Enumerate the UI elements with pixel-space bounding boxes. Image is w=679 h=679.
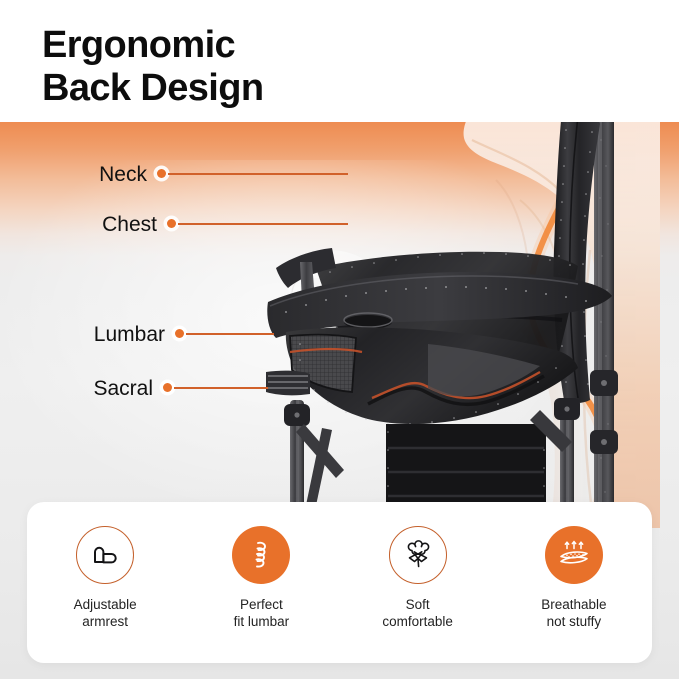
callout-neck-label: Neck	[99, 163, 147, 187]
callout-neck-line	[168, 173, 348, 175]
breathable-fabric-icon	[545, 526, 603, 584]
callout-chest-dot	[167, 219, 176, 228]
callout-sacral-line	[174, 387, 268, 389]
feature-card: Adjustable armrest Perfect fit lumbar	[27, 502, 652, 663]
callout-lumbar-line	[186, 333, 274, 335]
page-title: Ergonomic Back Design	[42, 24, 264, 110]
feature-perfect-fit-lumbar[interactable]: Perfect fit lumbar	[186, 526, 336, 630]
feature-adjustable-armrest[interactable]: Adjustable armrest	[30, 526, 180, 630]
callout-lumbar-dot	[175, 329, 184, 338]
infographic-page: Ergonomic Back Design Neck Chest Lumbar …	[0, 0, 679, 679]
armrest-icon	[76, 526, 134, 584]
callout-lumbar-label: Lumbar	[94, 323, 165, 347]
callout-sacral-label: Sacral	[93, 377, 153, 401]
feature-breathable-not-stuffy[interactable]: Breathable not stuffy	[499, 526, 649, 630]
callout-neck-dot	[157, 169, 166, 178]
feature-perfect-fit-lumbar-label: Perfect fit lumbar	[234, 596, 290, 630]
feature-adjustable-armrest-label: Adjustable armrest	[74, 596, 137, 630]
feature-soft-comfortable-label: Soft comfortable	[382, 596, 453, 630]
callout-sacral-dot	[163, 383, 172, 392]
spine-icon	[232, 526, 290, 584]
feature-breathable-not-stuffy-label: Breathable not stuffy	[541, 596, 606, 630]
cotton-boll-icon	[389, 526, 447, 584]
feature-soft-comfortable[interactable]: Soft comfortable	[343, 526, 493, 630]
callout-chest-line	[178, 223, 348, 225]
callout-chest-label: Chest	[102, 213, 157, 237]
